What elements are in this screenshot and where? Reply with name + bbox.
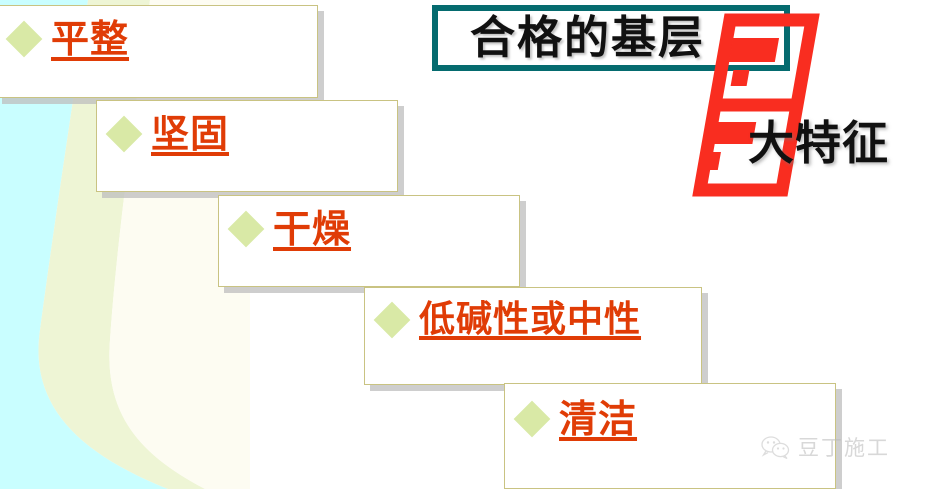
feature-card-label: 平整 — [51, 20, 129, 58]
feature-card-content: 清洁 — [519, 400, 637, 438]
diamond-bullet-icon — [106, 116, 143, 153]
diamond-bullet-icon — [228, 211, 265, 248]
big-number-five-icon — [690, 10, 820, 200]
feature-card-content: 干燥 — [233, 210, 351, 248]
feature-card[interactable]: 平整 — [0, 5, 318, 98]
feature-card[interactable]: 低碱性或中性 — [364, 287, 702, 385]
slide-canvas: 平整 坚固 干燥 低碱性或中性 清洁 合格的基层 — [0, 0, 928, 489]
feature-card-label: 干燥 — [273, 210, 351, 248]
page-title: 合格的基层 — [470, 13, 705, 63]
diamond-bullet-icon — [374, 302, 411, 339]
wechat-icon — [760, 435, 790, 459]
feature-card-content: 低碱性或中性 — [379, 302, 641, 338]
diamond-bullet-icon — [514, 401, 551, 438]
page-subtitle: 大特征 — [748, 117, 889, 169]
feature-card-label: 低碱性或中性 — [419, 302, 641, 338]
feature-card[interactable]: 坚固 — [96, 100, 398, 192]
feature-card-content: 平整 — [11, 20, 129, 58]
watermark-label: 豆丁施工 — [798, 432, 890, 462]
feature-card[interactable]: 干燥 — [218, 195, 520, 287]
feature-card-content: 坚固 — [111, 115, 229, 153]
feature-card-label: 坚固 — [151, 115, 229, 153]
diamond-bullet-icon — [6, 21, 43, 58]
watermark: 豆丁施工 — [760, 432, 890, 462]
feature-card-label: 清洁 — [559, 400, 637, 438]
